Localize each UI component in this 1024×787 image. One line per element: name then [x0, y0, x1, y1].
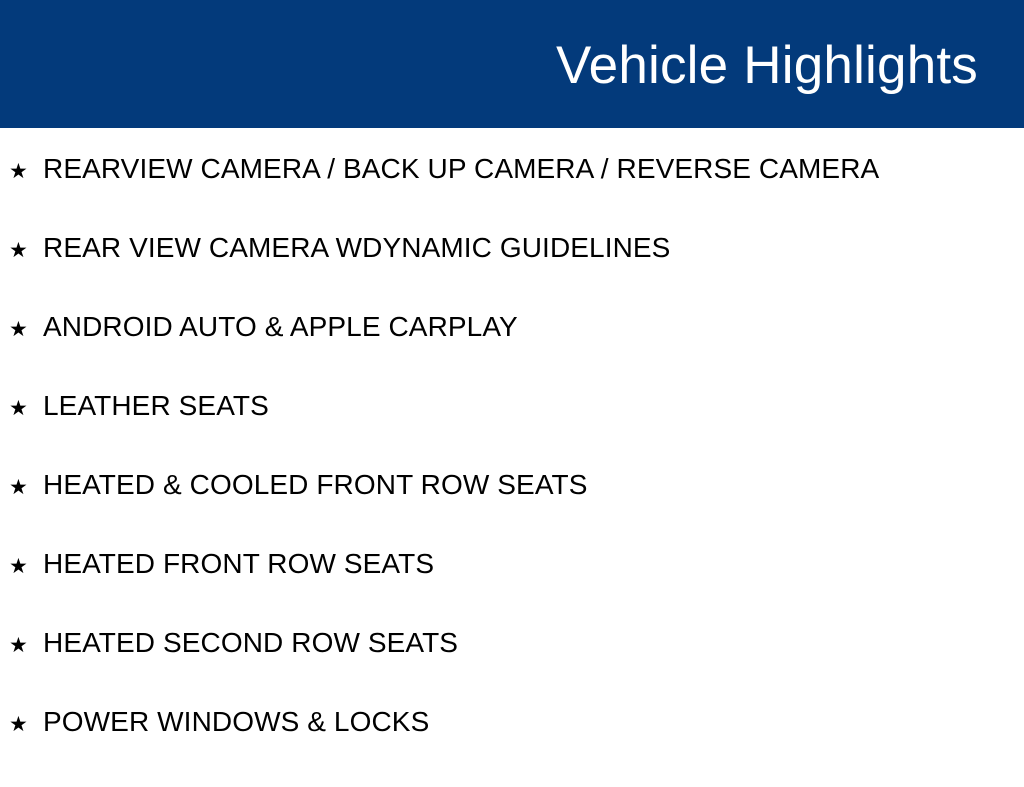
star-bullet-icon: ★ [9, 398, 43, 419]
header-banner: Vehicle Highlights [0, 0, 1024, 128]
vehicle-highlights-list: ★ REARVIEW CAMERA / BACK UP CAMERA / REV… [0, 128, 1024, 787]
vehicle-highlights-slide: Vehicle Highlights ★ REARVIEW CAMERA / B… [0, 0, 1024, 768]
star-bullet-icon: ★ [9, 714, 43, 735]
highlight-label: HEATED FRONT ROW SEATS [43, 550, 434, 578]
list-item: ★ ANDROID AUTO & APPLE CARPLAY [0, 313, 1024, 392]
highlight-label: HEATED & COOLED FRONT ROW SEATS [43, 471, 588, 499]
list-item: ★ HEATED FRONT ROW SEATS [0, 550, 1024, 629]
star-bullet-icon: ★ [9, 477, 43, 498]
highlight-label: POWER WINDOWS & LOCKS [43, 708, 429, 736]
star-bullet-icon: ★ [9, 556, 43, 577]
star-bullet-icon: ★ [9, 635, 43, 656]
star-bullet-icon: ★ [9, 240, 43, 261]
list-item: ★ HEATED & COOLED FRONT ROW SEATS [0, 471, 1024, 550]
highlight-label: HEATED SECOND ROW SEATS [43, 629, 458, 657]
highlight-label: ANDROID AUTO & APPLE CARPLAY [43, 313, 518, 341]
highlight-label: REARVIEW CAMERA / BACK UP CAMERA / REVER… [43, 155, 879, 183]
list-item: ★ REAR VIEW CAMERA WDYNAMIC GUIDELINES [0, 234, 1024, 313]
highlight-label: LEATHER SEATS [43, 392, 269, 420]
page-title: Vehicle Highlights [556, 39, 978, 92]
list-item: ★ POWER WINDOWS & LOCKS [0, 708, 1024, 787]
list-item: ★ HEATED SECOND ROW SEATS [0, 629, 1024, 708]
star-bullet-icon: ★ [9, 319, 43, 340]
list-item: ★ REARVIEW CAMERA / BACK UP CAMERA / REV… [0, 128, 1024, 234]
highlight-label: REAR VIEW CAMERA WDYNAMIC GUIDELINES [43, 234, 670, 262]
list-item: ★ LEATHER SEATS [0, 392, 1024, 471]
star-bullet-icon: ★ [9, 161, 43, 182]
